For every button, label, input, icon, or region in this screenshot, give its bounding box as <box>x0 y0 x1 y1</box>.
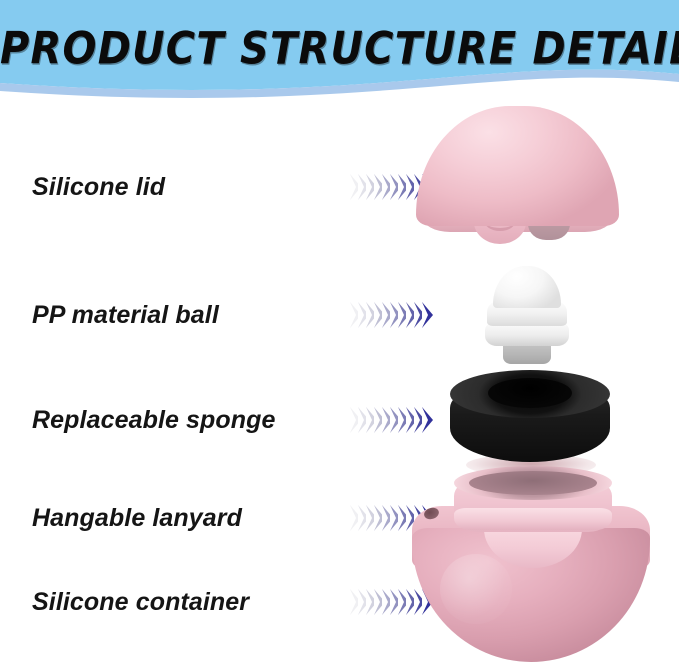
product-part-silicone-container <box>406 466 656 662</box>
product-part-pp-material-ball <box>483 266 571 364</box>
label-pp-material-ball: PP material ball <box>0 301 219 330</box>
arrow-strip-replaceable-sponge <box>350 405 430 435</box>
product-part-replaceable-sponge <box>450 370 610 470</box>
label-replaceable-sponge: Replaceable sponge <box>0 406 276 435</box>
container-highlight <box>440 554 512 624</box>
ball-dome <box>493 266 561 308</box>
chevron-icon <box>422 302 433 328</box>
product-part-silicone-lid <box>416 106 619 231</box>
sponge-center-hole <box>488 378 572 408</box>
lid-dome <box>416 106 619 226</box>
header-banner: PRODUCT STRUCTURE DETAILS <box>0 0 679 100</box>
part-row-hangable-lanyard: Hangable lanyard <box>0 496 430 540</box>
page-title: PRODUCT STRUCTURE DETAILS <box>0 20 679 78</box>
part-row-pp-material-ball: PP material ball <box>0 293 430 337</box>
part-row-silicone-lid: Silicone lid <box>0 165 430 209</box>
label-silicone-container: Silicone container <box>0 588 249 617</box>
container-mouth-opening <box>469 471 597 495</box>
label-hangable-lanyard: Hangable lanyard <box>0 504 242 533</box>
chevron-icon <box>422 407 433 433</box>
part-row-replaceable-sponge: Replaceable sponge <box>0 398 430 442</box>
arrow-strip-pp-material-ball <box>350 300 430 330</box>
container-collar-band <box>454 508 612 530</box>
infographic-page: PRODUCT STRUCTURE DETAILS Silicone lid P… <box>0 0 679 664</box>
part-row-silicone-container: Silicone container <box>0 580 430 624</box>
label-silicone-lid: Silicone lid <box>0 173 165 202</box>
